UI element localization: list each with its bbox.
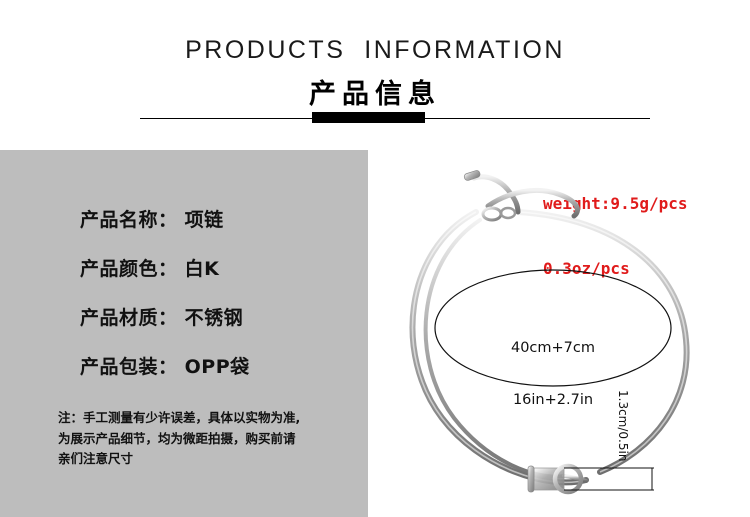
header-divider-bar [312, 112, 425, 123]
page-title-english: PRODUCTS INFORMATION [0, 36, 750, 65]
spec-row-color: 产品颜色： 白K [80, 254, 250, 281]
spec-row-packaging: 产品包装： OPP袋 [80, 352, 250, 379]
product-information-page: PRODUCTS INFORMATION 产品信息 产品名称： 项链 产品颜色：… [0, 0, 750, 517]
spec-row-material: 产品材质： 不锈钢 [80, 303, 250, 330]
note-line-2: 为展示产品细节，均为微距拍摄，购买前请 [58, 429, 358, 450]
note-line-3: 亲们注意尺寸 [58, 449, 358, 470]
page-title-chinese: 产品信息 [0, 72, 750, 111]
product-spec-panel: 产品名称： 项链 产品颜色： 白K 产品材质： 不锈钢 产品包装： OPP袋 注… [0, 150, 368, 517]
measurement-note: 注：手工测量有少许误差，具体以实物为准, 为展示产品细节，均为微距拍摄，购买前请… [58, 408, 358, 470]
spec-list: 产品名称： 项链 产品颜色： 白K 产品材质： 不锈钢 产品包装： OPP袋 [80, 205, 250, 401]
product-photo-area: weight:9.5g/pcs 0.3oz/pcs [368, 150, 750, 517]
size-callout-label: 40cm+7cm 16in+2.7in [478, 305, 628, 444]
thickness-label: 1.3cm/0.5in [616, 390, 630, 500]
length-imperial: 16in+2.7in [478, 392, 628, 409]
spec-row-name: 产品名称： 项链 [80, 205, 250, 232]
note-line-1: 注：手工测量有少许误差，具体以实物为准, [58, 408, 358, 429]
length-metric: 40cm+7cm [478, 340, 628, 357]
